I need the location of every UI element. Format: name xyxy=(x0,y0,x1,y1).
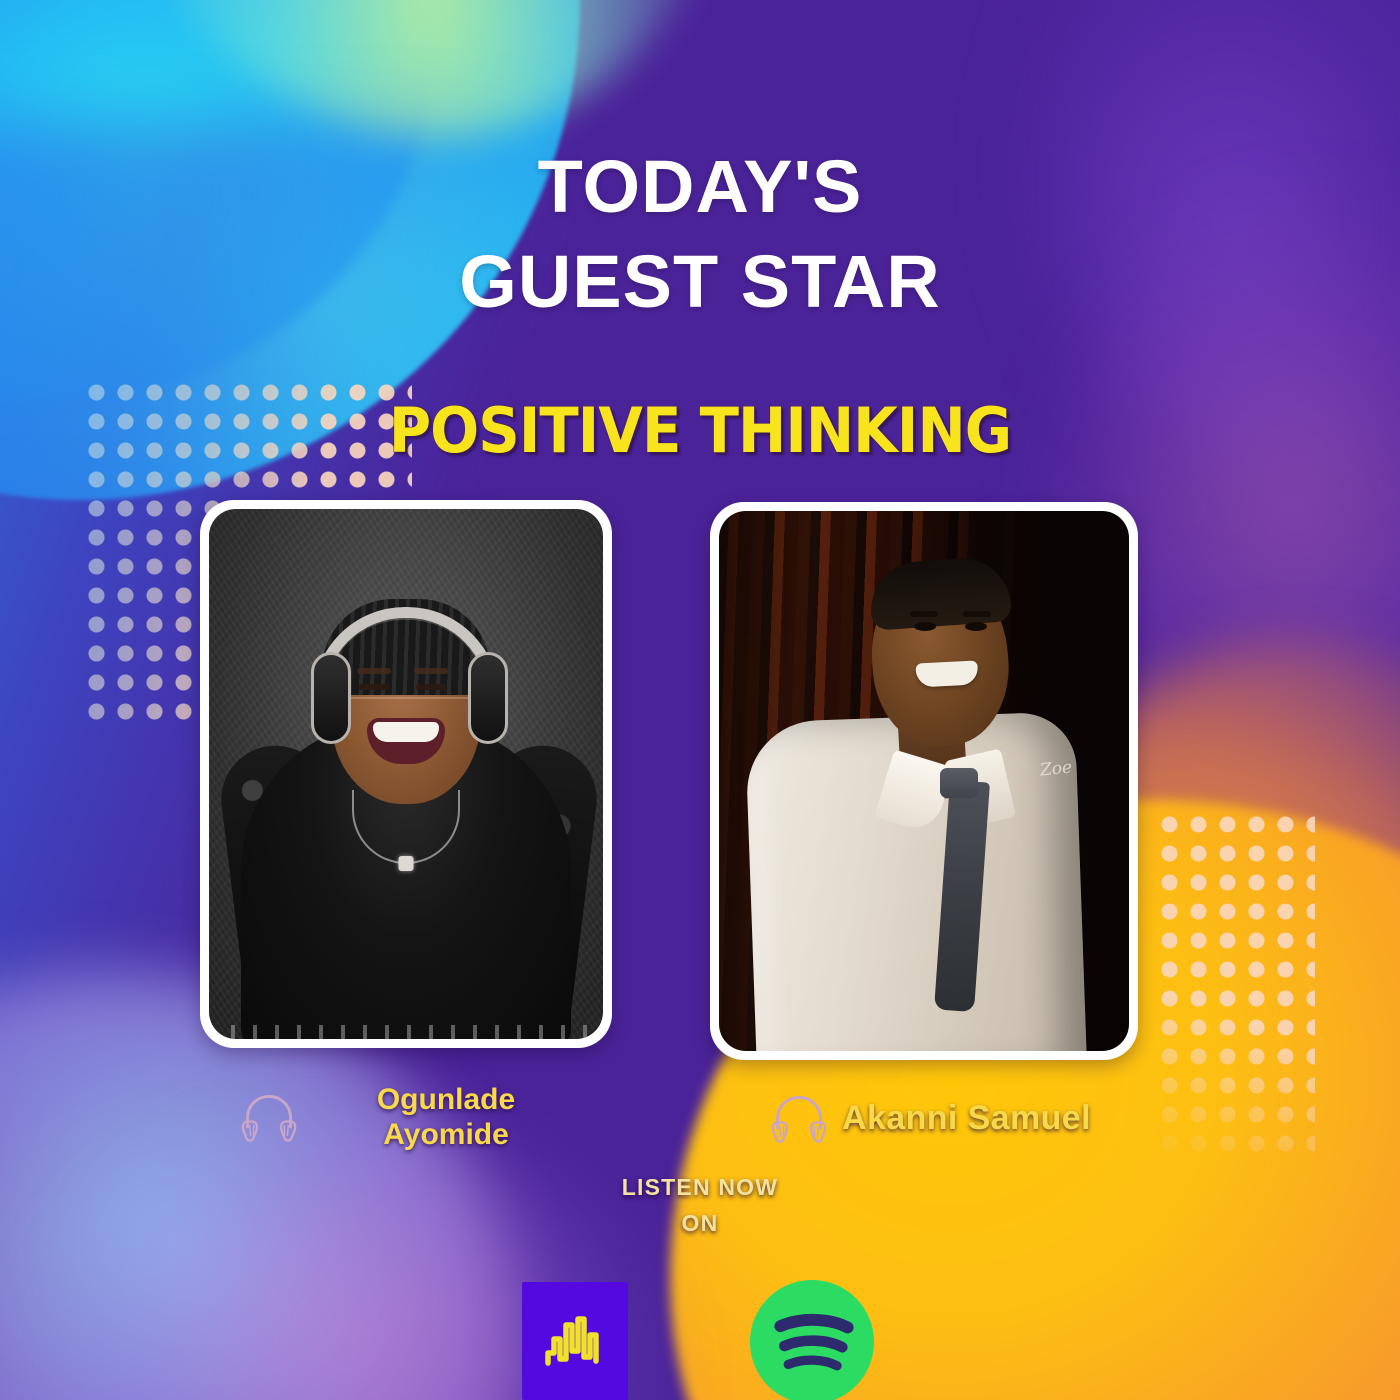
page-title: TODAY'S GUEST STAR xyxy=(0,140,1400,329)
guest-1-name-line-1: Ogunlade xyxy=(377,1083,515,1116)
show-title: POSITIVE THINKING xyxy=(49,394,1351,467)
platform-logos xyxy=(0,1260,1400,1400)
photo-1-bottom-strip xyxy=(209,1025,603,1039)
photo-1-headphone-cup-left xyxy=(311,652,351,744)
photo-2-eye-right xyxy=(965,622,987,631)
headphones-icon xyxy=(240,1091,298,1143)
photo-2-brow-left xyxy=(910,611,938,617)
listen-now-label: LISTEN NOW ON xyxy=(0,1170,1400,1241)
headphones-icon xyxy=(770,1092,828,1144)
guest-name-row-1: Ogunlade Ayomide xyxy=(240,1082,580,1153)
guest-name-row-2: Akanni Samuel xyxy=(770,1092,1190,1144)
headline-line-2: GUEST STAR xyxy=(0,235,1400,330)
photo-1-headphone-cup-right xyxy=(468,652,508,744)
photo-1-pendant xyxy=(399,856,414,871)
anchor-waveform-icon[interactable] xyxy=(522,1282,628,1400)
photo-2-tie-knot xyxy=(940,768,978,798)
guest-name-2: Akanni Samuel xyxy=(842,1098,1091,1138)
podcast-guest-poster: TODAY'S GUEST STAR POSITIVE THINKING xyxy=(0,0,1400,1400)
photo-2-watermark: Zoe xyxy=(1039,758,1073,781)
headline-line-1: TODAY'S xyxy=(0,140,1400,235)
spotify-icon[interactable] xyxy=(746,1276,878,1400)
guest-photo-card-1 xyxy=(200,500,612,1048)
listen-now-line-2: ON xyxy=(682,1210,719,1236)
guest-1-name-line-2: Ayomide xyxy=(383,1118,509,1151)
photo-1-teeth xyxy=(373,722,439,742)
guest-photo-card-2: Zoe xyxy=(710,502,1138,1060)
guest-name-1: Ogunlade Ayomide xyxy=(312,1082,580,1153)
photo-2-brow-right xyxy=(963,611,991,617)
listen-now-line-1: LISTEN NOW xyxy=(622,1174,778,1200)
photo-2-eye-left xyxy=(914,622,936,631)
guest-photo-2: Zoe xyxy=(719,511,1129,1051)
guest-photo-1 xyxy=(209,509,603,1039)
